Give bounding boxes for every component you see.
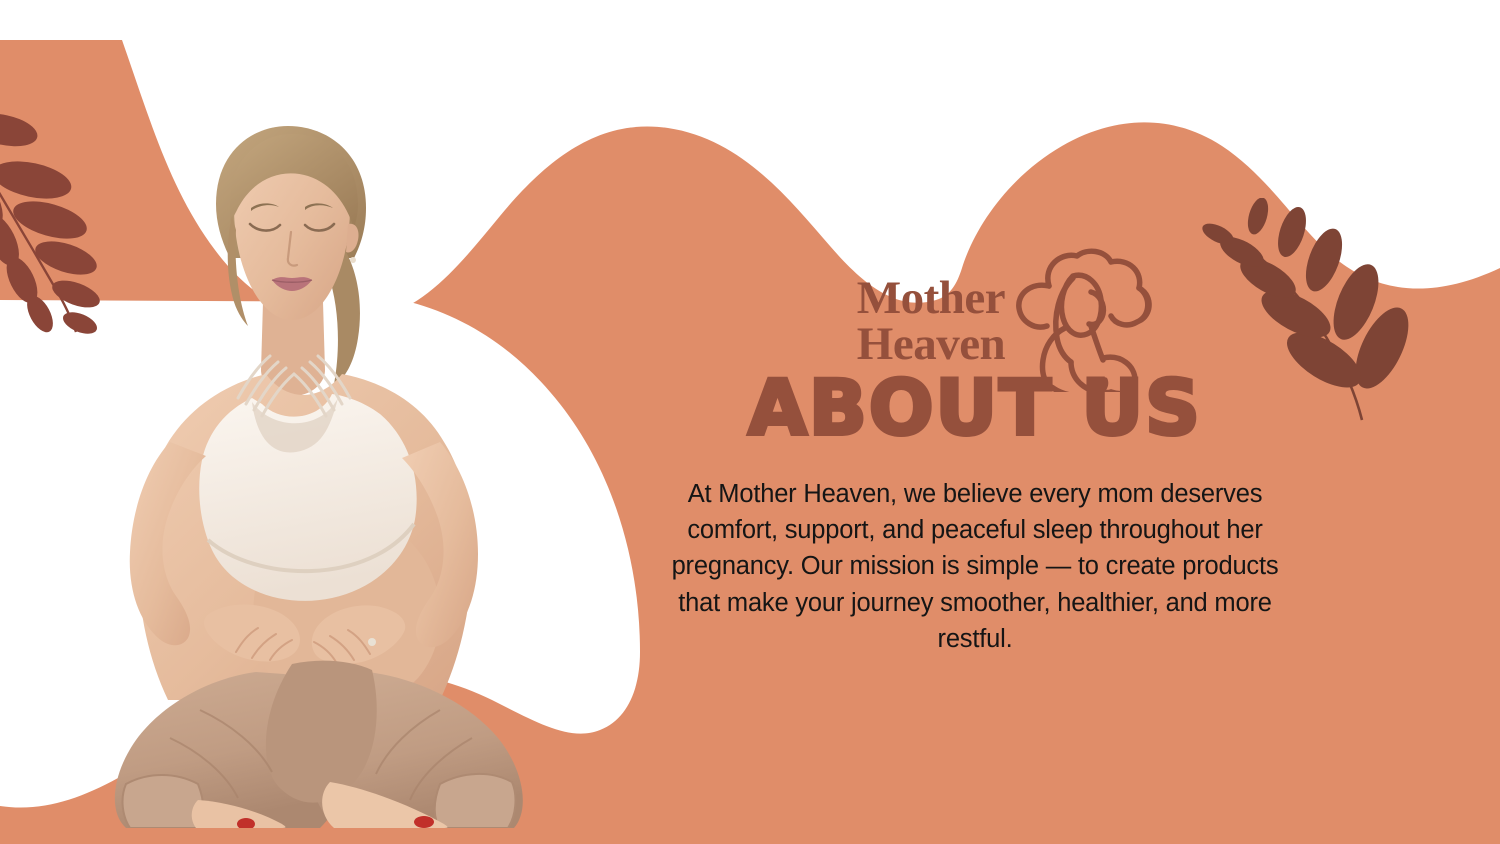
about-us-banner: Mother Heaven <box>0 0 1500 844</box>
brand-wordmark: Mother Heaven <box>857 275 1005 367</box>
pregnant-woman-meditating-photo <box>20 112 620 828</box>
page-title: ABOUT US <box>630 370 1320 446</box>
about-paragraph: At Mother Heaven, we believe every mom d… <box>655 476 1295 657</box>
about-content: Mother Heaven <box>630 250 1320 657</box>
